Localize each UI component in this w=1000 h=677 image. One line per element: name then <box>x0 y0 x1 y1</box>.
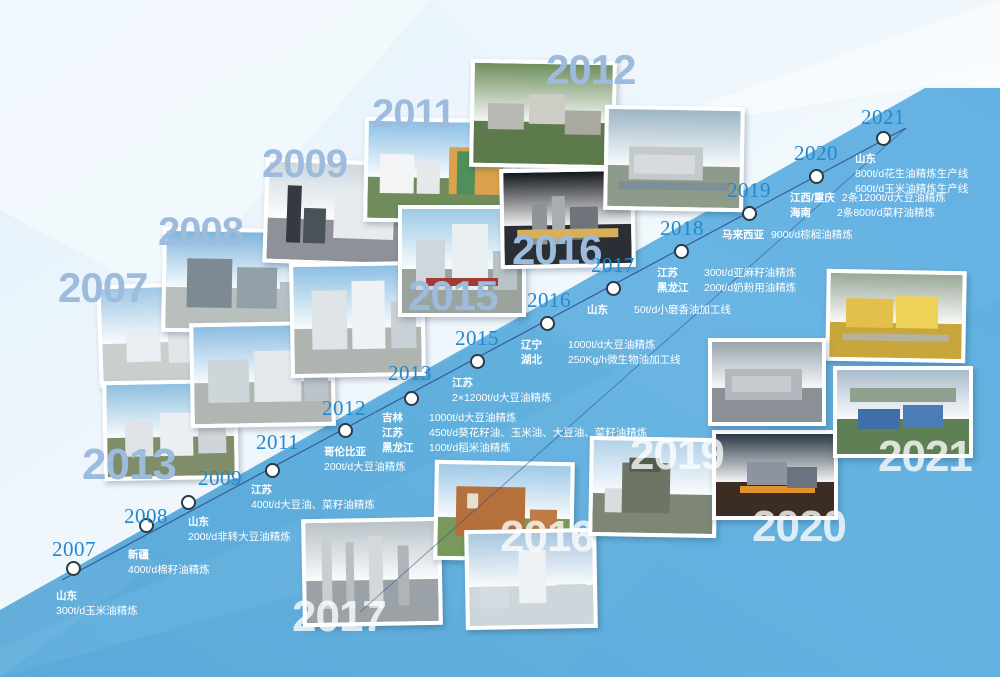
event-region: 江苏 <box>382 426 422 441</box>
event-region: 黑龙江 <box>382 441 422 456</box>
timeline-event-2013: 吉林1000t/d大豆油精炼江苏450t/d葵花籽油、玉米油、大豆油、菜籽油精炼… <box>382 411 647 456</box>
event-row: 山东300t/d玉米油精炼 <box>56 589 138 619</box>
timeline-event-2009: 山东200t/d非转大豆油精炼 <box>188 515 291 545</box>
event-region: 山东 <box>56 589 138 604</box>
timeline-event-2016: 辽宁1000t/d大豆油精炼湖北250Kg/h微生物油加工线 <box>521 338 681 368</box>
timeline-year-label-2012: 2012 <box>322 396 366 421</box>
timeline-event-2007: 山东300t/d玉米油精炼 <box>56 589 138 619</box>
event-region: 山东 <box>188 515 291 530</box>
event-description: 800t/d花生油精炼生产线 <box>855 167 968 182</box>
timeline-node-2007[interactable] <box>66 561 81 576</box>
event-description: 400t/d棉籽油精炼 <box>128 563 210 578</box>
event-description: 250Kg/h微生物油加工线 <box>568 353 681 368</box>
timeline-node-2019[interactable] <box>742 206 757 221</box>
timeline-year-label-2017: 2017 <box>591 253 635 278</box>
event-row: 黑龙江200t/d奶粉用油精炼 <box>657 281 796 296</box>
event-region: 海南 <box>790 206 830 221</box>
event-region: 江苏 <box>251 483 375 498</box>
timeline-year-label-2011: 2011 <box>256 430 299 455</box>
timeline-event-2011: 江苏400t/d大豆油、菜籽油精炼 <box>251 483 375 513</box>
event-region: 山东 <box>855 152 968 167</box>
timeline-node-2020[interactable] <box>809 169 824 184</box>
timeline-year-label-2019: 2019 <box>727 178 771 203</box>
event-description: 100t/d稻米油精炼 <box>429 441 511 456</box>
event-row: 江苏300t/d亚麻籽油精炼 <box>657 266 796 281</box>
event-description: 400t/d大豆油、菜籽油精炼 <box>251 498 375 513</box>
event-row: 辽宁1000t/d大豆油精炼 <box>521 338 681 353</box>
event-region: 马来西亚 <box>722 228 764 243</box>
event-row: 马来西亚900t/d棕榈油精炼 <box>722 228 853 243</box>
event-description: 300t/d玉米油精炼 <box>56 604 138 619</box>
event-description: 2条800t/d菜籽油精炼 <box>837 206 935 221</box>
event-row: 吉林1000t/d大豆油精炼 <box>382 411 647 426</box>
event-row: 新疆400t/d棉籽油精炼 <box>128 548 210 578</box>
event-row: 山东50t/d小磨香油加工线 <box>587 303 731 318</box>
event-description: 1000t/d大豆油精炼 <box>429 411 517 426</box>
event-row: 山东800t/d花生油精炼生产线 <box>855 152 968 182</box>
event-row: 600t/d玉米油精炼生产线 <box>855 182 968 197</box>
timeline-event-2015: 江苏2×1200t/d大豆油精炼 <box>452 376 552 406</box>
timeline-infographic: 2007200820092011201220152016201320172016… <box>0 0 1000 677</box>
timeline-node-2012[interactable] <box>338 423 353 438</box>
timeline-event-2018: 江苏300t/d亚麻籽油精炼黑龙江200t/d奶粉用油精炼 <box>657 266 796 296</box>
event-region: 辽宁 <box>521 338 561 353</box>
timeline-node-2009[interactable] <box>181 495 196 510</box>
event-row: 黑龙江100t/d稻米油精炼 <box>382 441 647 456</box>
event-row: 江苏400t/d大豆油、菜籽油精炼 <box>251 483 375 513</box>
timeline-node-2011[interactable] <box>265 463 280 478</box>
event-region: 新疆 <box>128 548 210 563</box>
event-row: 江苏2×1200t/d大豆油精炼 <box>452 376 552 406</box>
timeline-node-2021[interactable] <box>876 131 891 146</box>
event-region: 山东 <box>587 303 627 318</box>
timeline-node-2013[interactable] <box>404 391 419 406</box>
event-description: 200t/d奶粉用油精炼 <box>704 281 796 296</box>
timeline-event-2017: 山东50t/d小磨香油加工线 <box>587 303 731 318</box>
event-region: 江西/重庆 <box>790 191 835 206</box>
event-description: 200t/d大豆油精炼 <box>324 460 406 475</box>
timeline-year-label-2007: 2007 <box>52 537 96 562</box>
event-description: 450t/d葵花籽油、玉米油、大豆油、菜籽油精炼 <box>429 426 647 441</box>
timeline-event-2021: 山东800t/d花生油精炼生产线600t/d玉米油精炼生产线 <box>855 152 968 197</box>
event-row: 山东200t/d非转大豆油精炼 <box>188 515 291 545</box>
event-region: 湖北 <box>521 353 561 368</box>
event-region: 江苏 <box>657 266 697 281</box>
event-description: 900t/d棕榈油精炼 <box>771 228 853 243</box>
timeline-year-label-2008: 2008 <box>124 504 168 529</box>
timeline-year-label-2015: 2015 <box>455 326 499 351</box>
event-row: 江苏450t/d葵花籽油、玉米油、大豆油、菜籽油精炼 <box>382 426 647 441</box>
timeline-node-2015[interactable] <box>470 354 485 369</box>
event-description: 50t/d小磨香油加工线 <box>634 303 731 318</box>
timeline-year-label-2020: 2020 <box>794 141 838 166</box>
timeline-node-2016[interactable] <box>540 316 555 331</box>
event-description: 2×1200t/d大豆油精炼 <box>452 391 552 406</box>
timeline-node-2017[interactable] <box>606 281 621 296</box>
timeline-year-label-2016: 2016 <box>527 288 571 313</box>
event-description: 300t/d亚麻籽油精炼 <box>704 266 796 281</box>
event-region: 江苏 <box>452 376 552 391</box>
timeline-event-2008: 新疆400t/d棉籽油精炼 <box>128 548 210 578</box>
timeline-year-label-2021: 2021 <box>861 105 905 130</box>
event-description: 200t/d非转大豆油精炼 <box>188 530 291 545</box>
timeline-year-label-2013: 2013 <box>388 361 432 386</box>
event-description: 1000t/d大豆油精炼 <box>568 338 656 353</box>
timeline-year-label-2009: 2009 <box>198 466 242 491</box>
event-region: 黑龙江 <box>657 281 697 296</box>
timeline-node-2018[interactable] <box>674 244 689 259</box>
event-description: 600t/d玉米油精炼生产线 <box>855 182 968 197</box>
event-row: 海南2条800t/d菜籽油精炼 <box>790 206 946 221</box>
event-row: 湖北250Kg/h微生物油加工线 <box>521 353 681 368</box>
timeline-year-label-2018: 2018 <box>660 216 704 241</box>
timeline-event-2019: 马来西亚900t/d棕榈油精炼 <box>722 228 853 243</box>
event-region: 吉林 <box>382 411 422 426</box>
